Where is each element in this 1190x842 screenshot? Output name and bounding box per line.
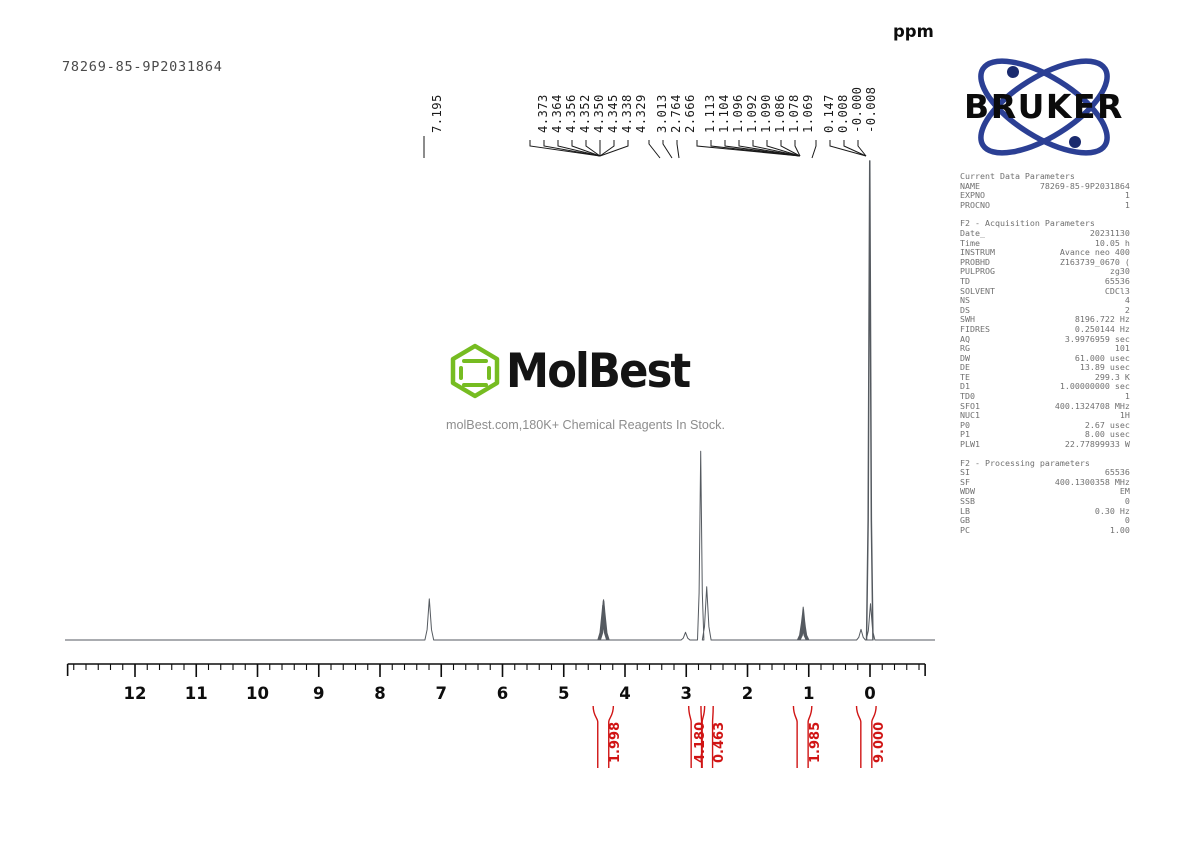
integral-value: 4.180 (693, 722, 708, 763)
integral-value: 1.985 (808, 722, 823, 763)
integral-value: 0.463 (712, 722, 727, 763)
integral-value: 9.000 (872, 722, 887, 763)
integral-value: 1.998 (608, 722, 623, 763)
nmr-report-page: 78269-85-9P2031864 7.1954.3734.3644.3564… (0, 0, 1190, 842)
integral-value-group: 1.9984.1800.4631.9859.000 (0, 0, 1190, 842)
